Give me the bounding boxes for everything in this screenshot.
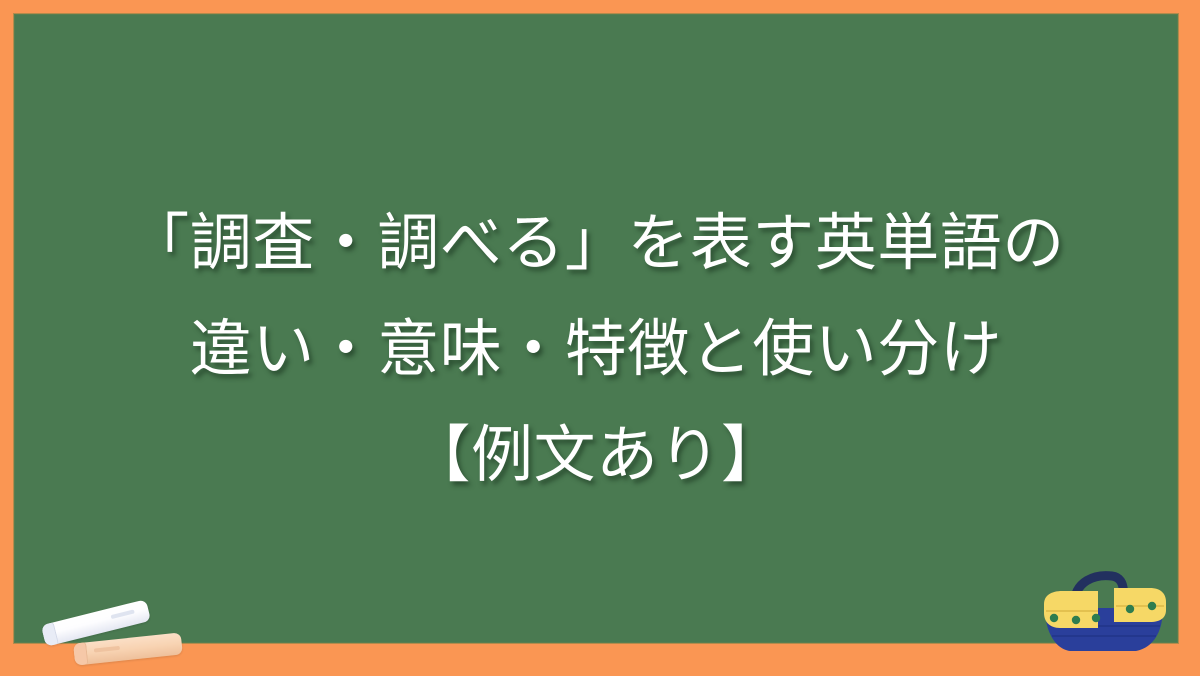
title-line-3: 【例文あり】 (408, 402, 783, 508)
toolbox-rivet-5 (1148, 602, 1156, 610)
toolbox-basket-icon (1040, 566, 1168, 658)
chalk-peach-cap (73, 642, 88, 665)
chalk-white-cap (41, 622, 59, 646)
toolbox-rivet-2 (1072, 616, 1080, 624)
title-block: 「調査・調べる」を表す英単語の 違い・意味・特徴と使い分け 【例文あり】 (14, 14, 1178, 643)
title-line-2: 違い・意味・特徴と使い分け (190, 296, 1003, 402)
toolbox-lid-left (1044, 591, 1098, 628)
toolbox-rivet-1 (1050, 614, 1058, 622)
toolbox-rivet-3 (1092, 614, 1100, 622)
toolbox-svg (1040, 566, 1168, 658)
chalk-peach-icon (73, 632, 183, 665)
chalk-sticks-icon (34, 600, 184, 676)
chalk-white-band (111, 609, 135, 619)
title-line-1: 「調査・調べる」を表す英単語の (127, 190, 1065, 296)
eyecatch-canvas: 「調査・調べる」を表す英単語の 違い・意味・特徴と使い分け 【例文あり】 (0, 0, 1200, 676)
chalk-peach-band (94, 646, 120, 653)
toolbox-rivet-4 (1126, 605, 1134, 613)
